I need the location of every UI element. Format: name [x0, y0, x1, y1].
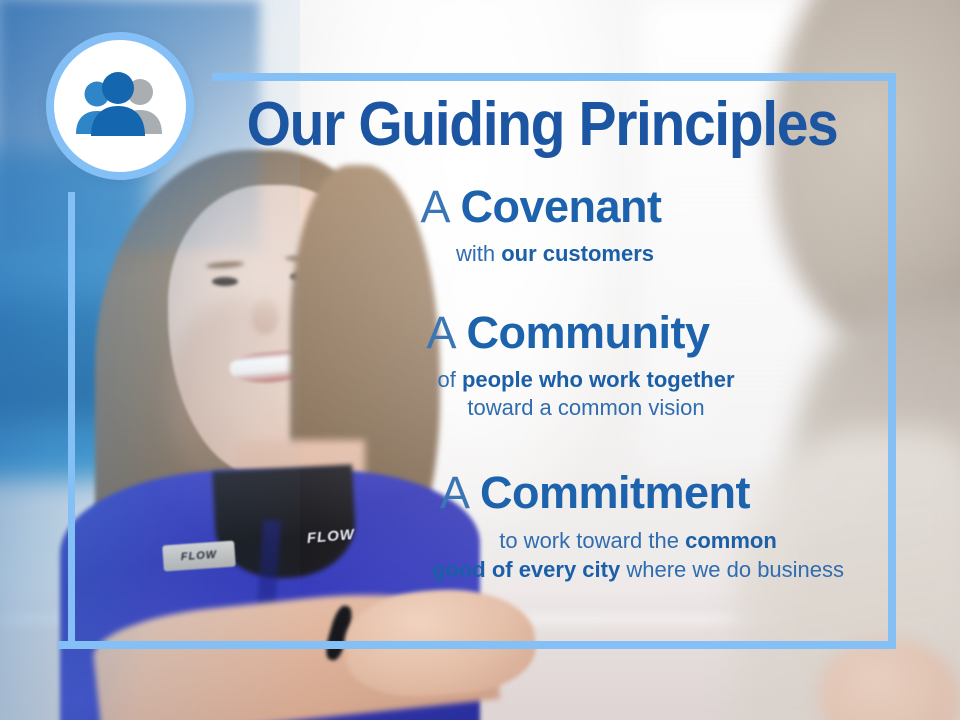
subtext-bold-1: our customers — [501, 241, 654, 266]
principle-commitment: A Commitment to work toward the common g… — [212, 470, 888, 585]
principle-subtext: of people who work together toward a com… — [248, 366, 888, 422]
subtext-line2-plain: toward a common vision — [467, 395, 704, 420]
principle-covenant: A Covenant with our customers — [212, 184, 888, 268]
subtext-plain-1: of — [437, 367, 461, 392]
principle-lead-word: A — [440, 467, 480, 518]
page-title: Our Guiding Principles — [238, 94, 845, 156]
people-group-badge — [46, 32, 194, 180]
content-area: Our Guiding Principles A Covenant with o… — [212, 84, 888, 640]
guiding-principles-graphic: FLOW FLOW Our — [0, 0, 960, 720]
principle-key-word: Commitment — [480, 467, 750, 518]
principle-heading: A Commitment — [302, 470, 888, 516]
frame-border-left — [68, 192, 75, 649]
frame-border-top — [212, 73, 896, 81]
principle-heading: A Community — [248, 310, 888, 356]
principle-lead-word: A — [420, 181, 460, 232]
principle-subtext: to work toward the common good of every … — [302, 526, 888, 585]
principle-key-word: Covenant — [461, 181, 662, 232]
principle-lead-word: A — [426, 307, 466, 358]
subtext-line2-plain: where we do business — [620, 557, 844, 582]
frame-border-right — [888, 73, 896, 649]
principle-key-word: Community — [467, 307, 710, 358]
subtext-plain-1: to work toward the — [499, 528, 685, 553]
principle-subtext: with our customers — [212, 240, 870, 268]
people-group-icon — [72, 72, 168, 140]
principle-community: A Community of people who work together … — [212, 310, 888, 422]
frame-border-bottom — [58, 641, 896, 649]
subtext-bold-1: people who work together — [462, 367, 735, 392]
subtext-line2-bold: good of every city — [432, 557, 620, 582]
principle-heading: A Covenant — [212, 184, 870, 230]
subtext-plain-1: with — [456, 241, 501, 266]
subtext-bold-1: common — [685, 528, 777, 553]
